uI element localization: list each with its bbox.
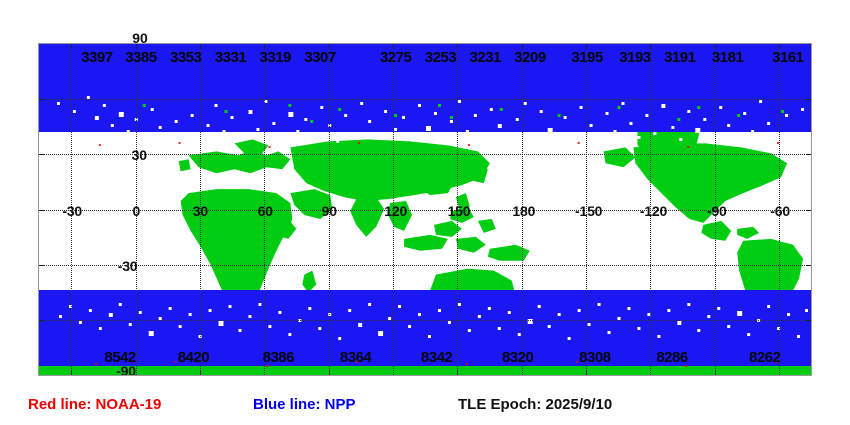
- tick-bottom: [715, 370, 716, 375]
- orbit-number: 3385: [125, 49, 156, 66]
- tick-left: [39, 154, 44, 155]
- orbit-number: 3397: [81, 49, 112, 66]
- orbit-number: 8262: [749, 349, 780, 366]
- orbit-number: 8342: [421, 349, 452, 366]
- lon-label: 150: [448, 203, 471, 219]
- tick-right: [806, 265, 811, 266]
- legend-tle-epoch: TLE Epoch: 2025/9/10: [458, 396, 612, 413]
- gridline-lat: [39, 154, 811, 155]
- orbit-number: 3209: [514, 49, 545, 66]
- tick-bottom: [329, 370, 330, 375]
- lon-label: 60: [258, 203, 273, 219]
- orbit-number: 3181: [712, 49, 743, 66]
- lon-label: 30: [193, 203, 208, 219]
- lat-label-neg30: -30: [118, 258, 138, 274]
- tick-right: [806, 99, 811, 100]
- orbit-number: 8420: [178, 349, 209, 366]
- orbit-number: 3307: [304, 49, 335, 66]
- gridline-lat: [39, 99, 811, 100]
- tick-left: [39, 265, 44, 266]
- orbit-number: 8386: [263, 349, 294, 366]
- lon-label: 180: [512, 203, 535, 219]
- tick-right: [806, 210, 811, 211]
- orbit-number: 3161: [772, 49, 803, 66]
- lon-label: -60: [770, 203, 790, 219]
- orbit-number: 3353: [170, 49, 201, 66]
- tick-bottom: [457, 370, 458, 375]
- tick-top: [71, 44, 72, 49]
- lon-label: 0: [132, 203, 140, 219]
- orbit-number: 3331: [215, 49, 246, 66]
- lon-label: -150: [575, 203, 602, 219]
- lon-label: -120: [640, 203, 667, 219]
- gridline-lat: [39, 210, 811, 211]
- gridline-lat: [39, 320, 811, 321]
- lon-label: 90: [322, 203, 337, 219]
- tick-left: [39, 320, 44, 321]
- tick-left: [39, 99, 44, 100]
- lat-label-30: 30: [132, 147, 147, 163]
- figure-canvas: 90: [0, 0, 850, 425]
- lon-label: -90: [707, 203, 727, 219]
- tick-left: [39, 210, 44, 211]
- legend-bar: Red line: NOAA-19 Blue line: NPP TLE Epo…: [0, 396, 850, 420]
- tick-bottom: [71, 370, 72, 375]
- orbit-number: 3195: [571, 49, 602, 66]
- tick-top: [457, 44, 458, 49]
- legend-noaa19: Red line: NOAA-19: [28, 396, 161, 413]
- tick-bottom: [200, 370, 201, 375]
- lat-label-neg90: -90: [116, 363, 136, 376]
- orbit-number: 8286: [656, 349, 687, 366]
- tick-bottom: [586, 370, 587, 375]
- orbit-number: 3193: [619, 49, 650, 66]
- orbit-number: 3253: [425, 49, 456, 66]
- legend-npp: Blue line: NPP: [253, 396, 356, 413]
- orbit-number: 3191: [664, 49, 695, 66]
- ground-track-map: -30 0 30 60 90 120 150 180 -150 -120 -90…: [38, 43, 812, 376]
- orbit-number: 3319: [260, 49, 291, 66]
- orbit-number: 8364: [340, 349, 371, 366]
- tick-right: [806, 320, 811, 321]
- lon-label: 120: [384, 203, 407, 219]
- gridline-lat: [39, 265, 811, 266]
- graticule-layer: [39, 44, 811, 375]
- orbit-number: 8320: [502, 349, 533, 366]
- tick-right: [806, 154, 811, 155]
- orbit-number: 3275: [380, 49, 411, 66]
- orbit-number: 3231: [470, 49, 501, 66]
- lon-label: -30: [62, 203, 82, 219]
- orbit-number: 8308: [579, 349, 610, 366]
